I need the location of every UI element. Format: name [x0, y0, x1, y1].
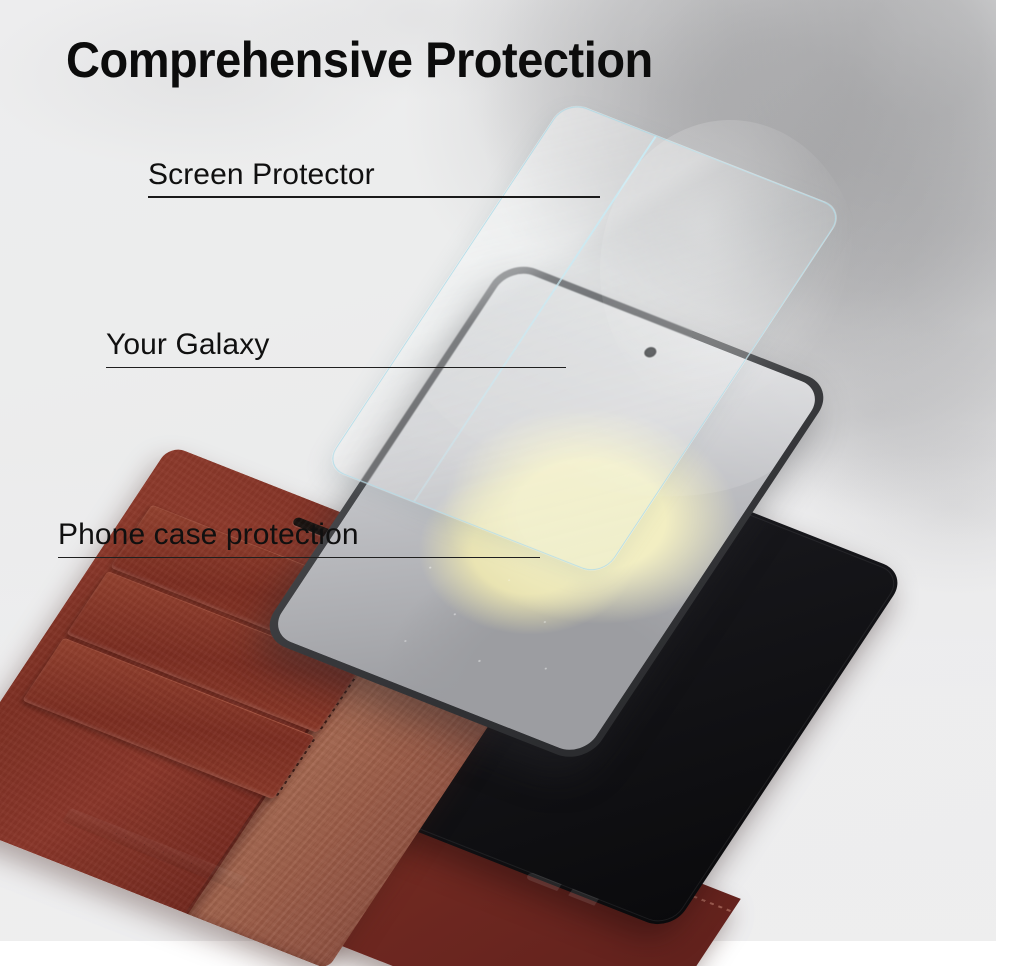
product-marketing-image: · · · · · · · · · Comprehensive Protecti…	[0, 0, 1020, 966]
callout-leader-line	[58, 557, 540, 558]
callout-label: Screen Protector	[148, 158, 375, 192]
callout-leader-line	[148, 196, 600, 198]
callout-label: Phone case protection	[58, 518, 359, 552]
callout-label: Your Galaxy	[106, 328, 269, 362]
callout-phone-case: Phone case protection	[58, 518, 540, 558]
callout-your-galaxy: Your Galaxy	[106, 328, 566, 368]
callout-screen-protector: Screen Protector	[148, 158, 600, 198]
page-title: Comprehensive Protection	[66, 31, 653, 89]
callout-leader-line	[106, 367, 566, 368]
